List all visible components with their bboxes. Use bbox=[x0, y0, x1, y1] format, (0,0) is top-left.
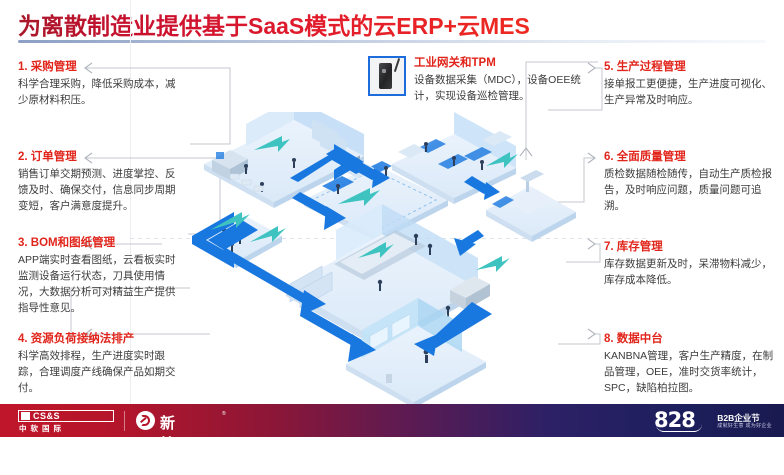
campaign-title: B2B企业节 bbox=[717, 413, 772, 423]
feature-heading-7: 7. 库存管理 bbox=[604, 238, 776, 254]
slide-header: 为离散制造业提供基于SaaS模式的云ERP+云MES bbox=[0, 0, 784, 46]
feature-block-7: 7. 库存管理 库存数据更新及时，呆滞物料减少，库存成本降低。 bbox=[604, 238, 776, 289]
feature-heading-6: 6. 全面质量管理 bbox=[604, 148, 776, 164]
feature-block-8: 8. 数据中台 KANBNA管理，客户生产精度，在制品管理，OEE，准时交货率统… bbox=[604, 330, 776, 397]
feature-body-5: 接单报工更便捷，生产进度可视化、生产异常及时响应。 bbox=[604, 77, 776, 109]
gateway-device-icon bbox=[379, 63, 392, 89]
feature-body-1: 科学合理采购，降低采购成本，减少原材料积压。 bbox=[18, 77, 184, 109]
campaign-text: B2B企业节 成就好生意 成为好企业 bbox=[717, 413, 772, 430]
feature-heading-3: 3. BOM和图纸管理 bbox=[18, 234, 184, 250]
factory-illustration-svg bbox=[186, 112, 590, 404]
feature-heading-5: 5. 生产过程管理 bbox=[604, 58, 776, 74]
registered-mark-icon: ® bbox=[222, 411, 226, 417]
footer-divider bbox=[124, 411, 125, 431]
cssl-logo: CS&S 中软国际 bbox=[18, 410, 114, 432]
campaign-tagline: 成就好生意 成为好企业 bbox=[717, 423, 772, 430]
feature-body-3: APP端实时查看图纸，云看板实时监测设备运行状态，刀具使用情况，大数据分析可对精… bbox=[18, 253, 184, 317]
gateway-body: 设备数据采集（MDC），设备OEE统计，实现设备巡检管理。 bbox=[414, 73, 588, 105]
feature-block-1: 1. 采购管理 科学合理采购，降低采购成本，减少原材料积压。 bbox=[18, 58, 184, 109]
gateway-callout-text: 工业网关和TPM 设备数据采集（MDC），设备OEE统计，实现设备巡检管理。 bbox=[414, 54, 588, 105]
footer-bar: CS&S 中软国际 新核云 ® 828 B2B企业节 成就好生意 成为好企业 bbox=[0, 404, 784, 437]
gateway-heading: 工业网关和TPM bbox=[414, 54, 588, 70]
feature-body-2: 销售订单交期预测、进度掌控、反馈及时、确保交付，信息同步周期变短，客户满意度提升… bbox=[18, 167, 184, 215]
feature-heading-4: 4. 资源负荷接纳法排产 bbox=[18, 330, 184, 346]
industrial-gateway-device-image bbox=[368, 56, 406, 96]
page-title: 为离散制造业提供基于SaaS模式的云ERP+云MES bbox=[18, 7, 530, 41]
campaign-828-logo: 828 bbox=[654, 408, 706, 432]
slide-root: 为离散制造业提供基于SaaS模式的云ERP+云MES bbox=[0, 0, 784, 437]
cssl-logo-cn: 中软国际 bbox=[19, 423, 65, 434]
factory-illustration bbox=[186, 112, 590, 404]
feature-body-8: KANBNA管理，客户生产精度，在制品管理，OEE，准时交货率统计，SPC，缺陷… bbox=[604, 349, 776, 397]
feature-block-6: 6. 全面质量管理 质检数据随检随传，自动生产质检报告，及时响应问题，质量问题可… bbox=[604, 148, 776, 215]
campaign-swoosh-icon bbox=[656, 424, 702, 432]
feature-body-6: 质检数据随检随传，自动生产质检报告，及时响应问题，质量问题可追溯。 bbox=[604, 167, 776, 215]
feature-heading-2: 2. 订单管理 bbox=[18, 148, 184, 164]
feature-block-3: 3. BOM和图纸管理 APP端实时查看图纸，云看板实时监测设备运行状态，刀具使… bbox=[18, 234, 184, 317]
feature-heading-1: 1. 采购管理 bbox=[18, 58, 184, 74]
feature-body-7: 库存数据更新及时，呆滞物料减少，库存成本降低。 bbox=[604, 257, 776, 289]
feature-block-5: 5. 生产过程管理 接单报工更便捷，生产进度可视化、生产异常及时响应。 bbox=[604, 58, 776, 109]
feature-body-4: 科学高效排程，生产进度实时跟踪，合理调度产线确保产品如期交付。 bbox=[18, 349, 184, 397]
feature-block-2: 2. 订单管理 销售订单交期预测、进度掌控、反馈及时、确保交付，信息同步周期变短… bbox=[18, 148, 184, 215]
xinheyun-logo-cn: 新核云 bbox=[160, 412, 176, 475]
xinheyun-logo-icon bbox=[136, 411, 155, 430]
cssl-logo-word: CS&S bbox=[33, 411, 60, 421]
feature-heading-8: 8. 数据中台 bbox=[604, 330, 776, 346]
cssl-logo-mark bbox=[21, 412, 30, 420]
feature-block-4: 4. 资源负荷接纳法排产 科学高效排程，生产进度实时跟踪，合理调度产线确保产品如… bbox=[18, 330, 184, 397]
